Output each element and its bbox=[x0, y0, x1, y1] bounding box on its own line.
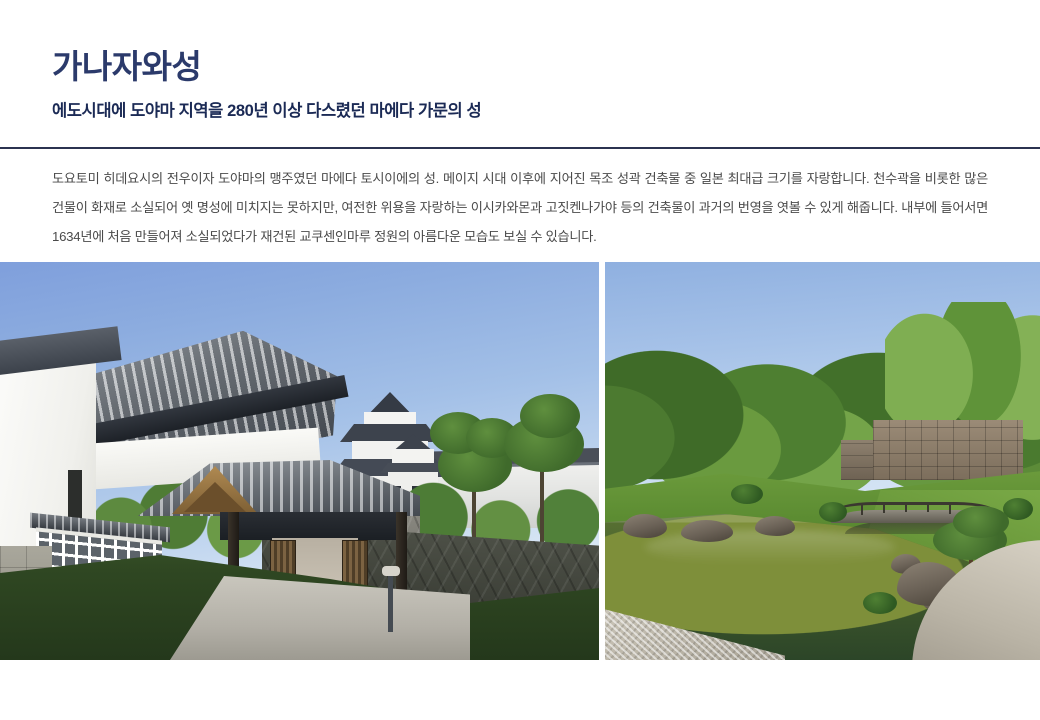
garden-shrub bbox=[863, 592, 897, 614]
photo-canvas-castle bbox=[0, 262, 599, 660]
photo-canvas-garden bbox=[605, 262, 1040, 660]
photo-gyokuseninmaru-garden[interactable]: 교쿠센인마루 정원의 연못과 나무 아치 다리 bbox=[605, 262, 1040, 660]
garden-shrub bbox=[731, 484, 763, 504]
page-subtitle: 에도시대에 도야마 지역을 280년 이상 다스렸던 마에다 가문의 성 bbox=[52, 101, 988, 122]
page-title: 가나자와성 bbox=[52, 48, 988, 86]
boulder-foreground bbox=[623, 514, 667, 538]
boulder-foreground bbox=[755, 516, 795, 536]
boulder-foreground bbox=[681, 520, 733, 542]
article-body: 도요토미 히데요시의 전우이자 도야마의 맹주였던 마에다 토시이에의 성. 메… bbox=[52, 164, 988, 251]
stone-ruin-wall bbox=[873, 420, 1023, 480]
photo-gallery: 가나자와성 이시카와몬 문과 흰 나마코벽, 푸른 하늘 bbox=[0, 262, 1040, 660]
photo-kanazawa-castle-gate[interactable]: 가나자와성 이시카와몬 문과 흰 나마코벽, 푸른 하늘 bbox=[0, 262, 599, 660]
garden-shrub bbox=[819, 502, 847, 522]
article-body-text: 도요토미 히데요시의 전우이자 도야마의 맹주였던 마에다 토시이에의 성. 메… bbox=[52, 164, 988, 251]
article-page: 가나자와성 에도시대에 도야마 지역을 280년 이상 다스렸던 마에다 가문의… bbox=[0, 0, 1040, 720]
garden-lamp-post bbox=[388, 572, 393, 632]
article-header: 가나자와성 에도시대에 도야마 지역을 280년 이상 다스렸던 마에다 가문의… bbox=[0, 0, 1040, 122]
garden-lamp-head bbox=[382, 566, 400, 576]
header-divider bbox=[0, 147, 1040, 149]
